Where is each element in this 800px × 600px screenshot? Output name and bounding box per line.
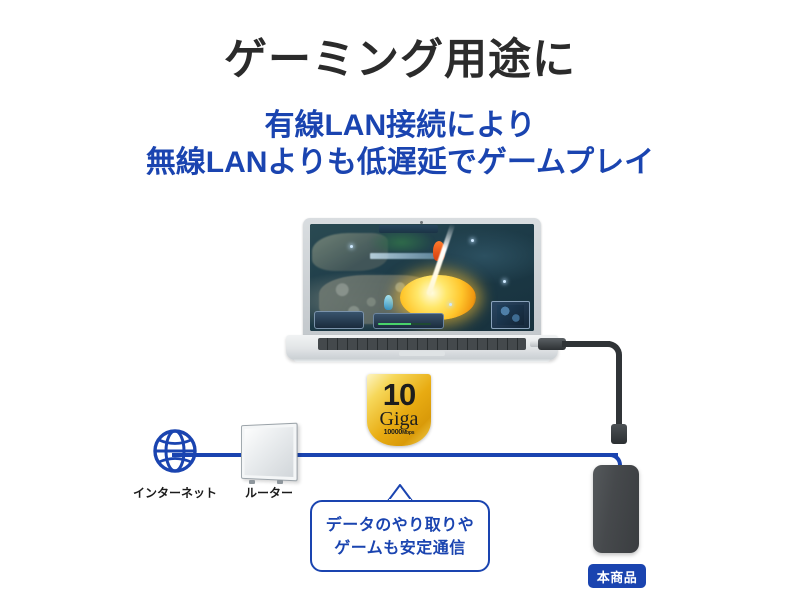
- callout-line-2: ゲームも安定通信: [312, 537, 488, 560]
- badge-speed-unit: Mbps: [402, 430, 414, 436]
- usb-c-cable-end-connector: [611, 424, 627, 444]
- subheadline-line-2: 無線LANよりも低遅延でゲームプレイ: [0, 145, 800, 182]
- usb-c-cable-vertical: [616, 364, 622, 426]
- subheadline: 有線LAN接続により 無線LANよりも低遅延でゲームプレイ: [0, 108, 800, 181]
- badge-number: 10: [367, 374, 431, 410]
- page-title: ゲーミング用途に: [0, 38, 800, 83]
- router-label: ルーター: [238, 484, 300, 501]
- badge-unit-word: Giga: [367, 410, 431, 428]
- router-icon: [239, 424, 297, 480]
- game-minimap: [491, 301, 529, 329]
- globe-icon: [152, 428, 198, 474]
- badge-speed: 10000Mbps: [367, 428, 431, 438]
- game-ability-bar: [373, 313, 445, 329]
- badge-speed-value: 10000: [384, 429, 402, 436]
- product-badge: 本商品: [588, 564, 646, 588]
- internet-label: インターネット: [133, 484, 217, 501]
- laptop-lid: [303, 218, 541, 338]
- promo-graphic: ゲーミング用途に 有線LAN接続により 無線LANよりも低遅延でゲームプレイ: [0, 0, 800, 600]
- game-top-hud: [379, 225, 437, 232]
- laptop-base: [286, 335, 558, 360]
- callout-line-1: データのやり取りや: [312, 514, 488, 537]
- callout-bubble: データのやり取りや ゲームも安定通信: [310, 500, 490, 572]
- game-spark: [503, 280, 506, 283]
- subheadline-line-1: 有線LAN接続により: [0, 108, 800, 145]
- game-message-banner: [370, 253, 435, 259]
- laptop-icon: [286, 218, 558, 363]
- laptop-foot: [294, 359, 550, 362]
- game-screen: [310, 224, 534, 331]
- laptop-trackpad: [399, 351, 445, 356]
- router-body: [241, 423, 298, 482]
- laptop-keyboard: [318, 338, 526, 350]
- ten-giga-badge: 10 Giga 10000Mbps: [367, 374, 431, 446]
- game-player-portrait: [314, 311, 363, 329]
- game-ally-character: [384, 295, 393, 310]
- usb-lan-adapter-icon: [593, 465, 639, 553]
